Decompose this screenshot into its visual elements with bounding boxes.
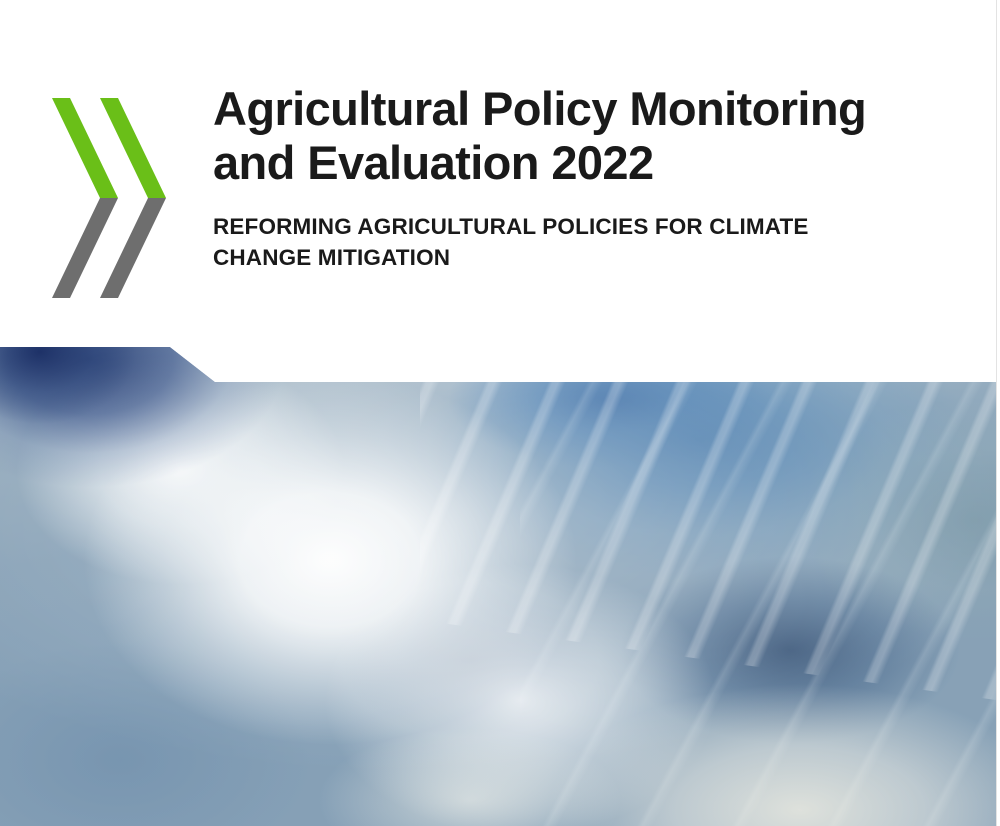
cover-subtitle: REFORMING AGRICULTURAL POLICIES FOR CLIM…: [213, 211, 931, 273]
cover-title: Agricultural Policy Monitoring and Evalu…: [213, 82, 973, 190]
report-cover-page: Agricultural Policy Monitoring and Evalu…: [0, 0, 1000, 826]
page-right-margin: [996, 0, 1000, 826]
cover-text-block: Agricultural Policy Monitoring and Evalu…: [213, 82, 973, 273]
oecd-logo: [48, 98, 170, 333]
